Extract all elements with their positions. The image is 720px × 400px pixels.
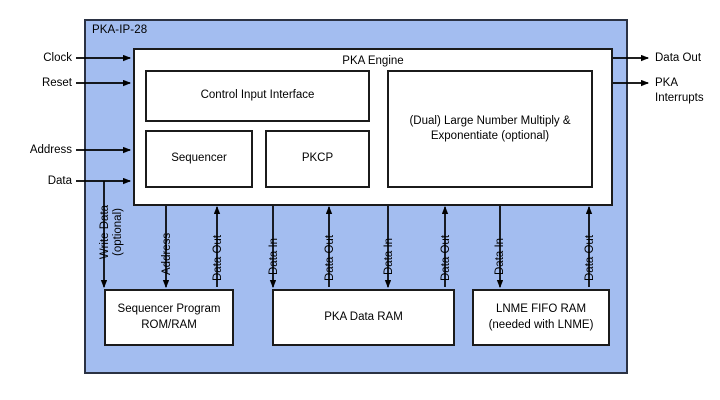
- bus-label-data-in-1: Data In: [268, 238, 281, 275]
- bus-label-data-out-1: Data Out: [212, 235, 225, 281]
- pka-engine-label: PKA Engine: [342, 54, 403, 69]
- sequencer-program-rom-ram-label: Sequencer ProgramROM/RAM: [118, 302, 221, 332]
- port-label-clock: Clock: [22, 51, 72, 66]
- chip-title: PKA-IP-28: [92, 24, 147, 36]
- port-label-pka-interrupts: PKAInterrupts: [655, 76, 704, 105]
- bus-label-data-in-2: Data In: [383, 238, 396, 275]
- port-label-data-out: Data Out: [655, 51, 701, 66]
- diagram-canvas: PKA-IP-28 PKA Engine Control Input Inter…: [0, 0, 720, 400]
- control-input-interface-label: Control Input Interface: [201, 88, 315, 103]
- bus-label-data-out-2: Data Out: [324, 235, 337, 281]
- port-label-reset: Reset: [22, 76, 72, 91]
- pka-data-ram-label: PKA Data RAM: [324, 310, 403, 325]
- pkcp-label: PKCP: [302, 151, 333, 166]
- lnme-fifo-ram-label: LNME FIFO RAM(needed with LNME): [489, 302, 594, 332]
- bus-label-write-data-optional: Write Data(optional): [99, 189, 125, 275]
- lnme-label: (Dual) Large Number Multiply & Exponenti…: [397, 114, 583, 144]
- pkcp-block: PKCP: [265, 130, 370, 188]
- port-label-address: Address: [6, 143, 72, 158]
- lnme-fifo-ram-block: LNME FIFO RAM(needed with LNME): [472, 289, 610, 346]
- control-input-interface-block: Control Input Interface: [145, 70, 370, 122]
- sequencer-label: Sequencer: [171, 151, 227, 166]
- sequencer-block: Sequencer: [145, 130, 253, 188]
- bus-label-data-out-3: Data Out: [440, 235, 453, 281]
- pka-data-ram-block: PKA Data RAM: [272, 289, 455, 346]
- port-label-data: Data: [22, 174, 72, 189]
- lnme-block: (Dual) Large Number Multiply & Exponenti…: [387, 70, 593, 188]
- bus-label-address: Address: [161, 233, 174, 275]
- bus-label-data-out-4: Data Out: [584, 235, 597, 281]
- sequencer-program-rom-ram-block: Sequencer ProgramROM/RAM: [104, 289, 234, 346]
- bus-label-data-in-3: Data In: [494, 238, 507, 275]
